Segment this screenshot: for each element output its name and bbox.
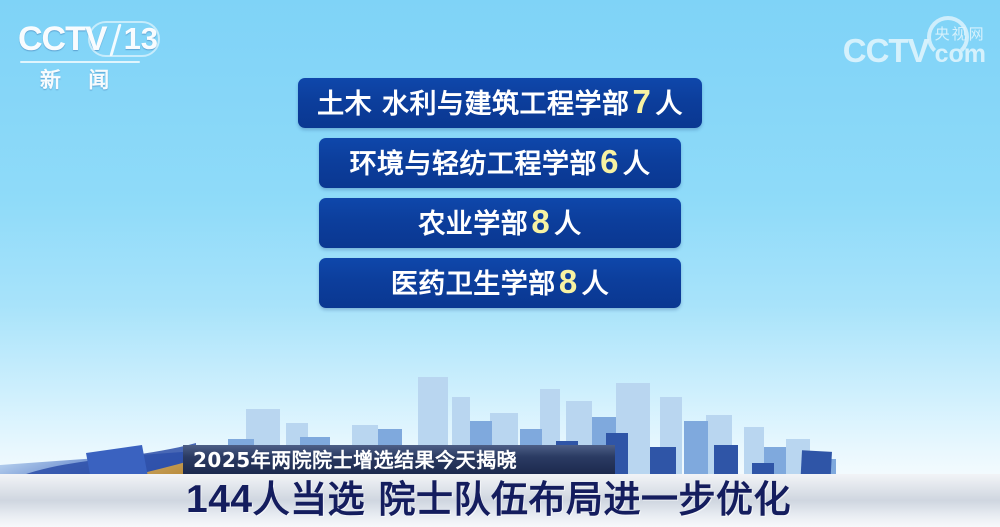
channel-number: 13 [124,20,162,58]
cctv-com-watermark: CCTV 央视网 com [843,22,986,68]
stat-count-1: 6 [597,147,621,177]
stat-label-2: 农业学部 [418,210,528,240]
stat-box-medicine-health[interactable]: 医药卫生学部 8 人 [319,258,681,308]
stat-row-0: 土木 水利与建筑工程学部 7 人 [317,87,683,120]
logo-underline [20,61,140,63]
stat-row-2: 农业学部 8 人 [418,207,581,240]
stat-count-2: 8 [528,207,552,237]
stat-label-3: 医药卫生学部 [391,270,556,300]
stat-unit-0: 人 [653,90,683,120]
banner-headline-rest: 人当选 院士队伍布局进一步优化 [253,478,791,521]
cctv13-channel-logo: CCTV 13 新 闻 [18,20,163,86]
banner-headline-text: 144人当选 院士队伍布局进一步优化 [186,476,791,524]
stat-label-0: 土木 水利与建筑工程学部 [317,90,629,120]
cctv13-logo-row: CCTV 13 [18,20,163,58]
stat-row-1: 环境与轻纺工程学部 6 人 [350,147,651,180]
stat-unit-2: 人 [552,210,582,240]
stat-box-environment-textile[interactable]: 环境与轻纺工程学部 6 人 [319,138,681,188]
stat-row-3: 医药卫生学部 8 人 [391,267,609,300]
stat-box-civil-engineering[interactable]: 土木 水利与建筑工程学部 7 人 [298,78,702,128]
stat-count-3: 8 [556,267,580,297]
watermark-ring-icon [927,16,969,58]
stat-box-agriculture[interactable]: 农业学部 8 人 [319,198,681,248]
banner-subtitle-text: 2025年两院院士增选结果今天揭晓 [193,449,517,471]
stat-unit-3: 人 [580,270,610,300]
lower-third-banner: 2025年两院院士增选结果今天揭晓 144人当选 院士队伍布局进一步优化 [0,445,1000,527]
cctv-wordmark: CCTV [18,20,107,58]
banner-subtitle-bar: 2025年两院院士增选结果今天揭晓 [183,445,615,474]
broadcast-frame: CCTV 13 新 闻 CCTV 央视网 com [0,0,1000,527]
stat-label-1: 环境与轻纺工程学部 [350,150,598,180]
banner-headline-number: 144 [186,478,253,521]
banner-headline-bar: 144人当选 院士队伍布局进一步优化 [0,474,1000,527]
academy-division-stats-list: 土木 水利与建筑工程学部 7 人 环境与轻纺工程学部 6 人 农业学部 8 人 … [0,78,1000,318]
stat-count-0: 7 [630,87,654,117]
watermark-wordmark: CCTV [843,34,929,68]
stat-unit-1: 人 [621,150,651,180]
slash-icon [109,22,123,56]
